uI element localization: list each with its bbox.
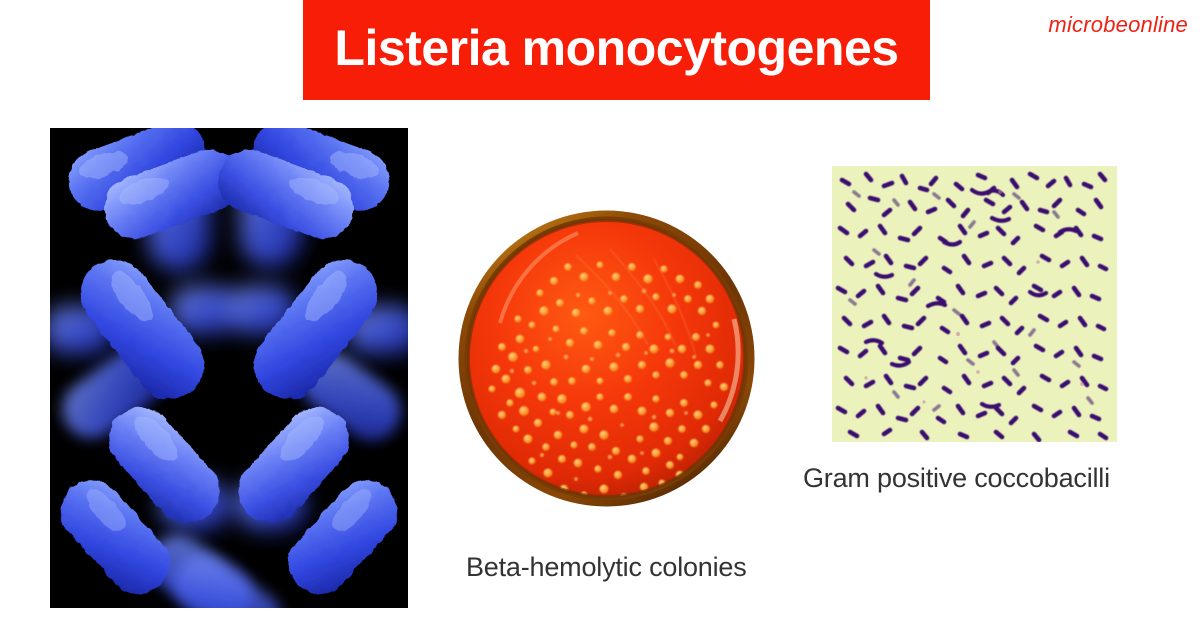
title-banner: Listeria monocytogenes	[303, 0, 930, 100]
caption-gram-positive-coccobacilli: Gram positive coccobacilli	[803, 463, 1110, 494]
caption-beta-hemolytic-colonies: Beta-hemolytic colonies	[466, 552, 747, 583]
gram-stain-graphic	[832, 166, 1117, 442]
sem-bacteria-graphic	[50, 128, 408, 608]
blood-agar-graphic	[458, 207, 755, 510]
blood-agar-plate-image	[458, 207, 755, 510]
gram-stain-image	[832, 166, 1117, 442]
poster-canvas: Listeria monocytogenes microbeonline	[0, 0, 1200, 628]
sem-bacteria-image	[50, 128, 408, 608]
page-title: Listeria monocytogenes	[334, 23, 898, 73]
brand-logo[interactable]: microbeonline	[1048, 12, 1188, 38]
